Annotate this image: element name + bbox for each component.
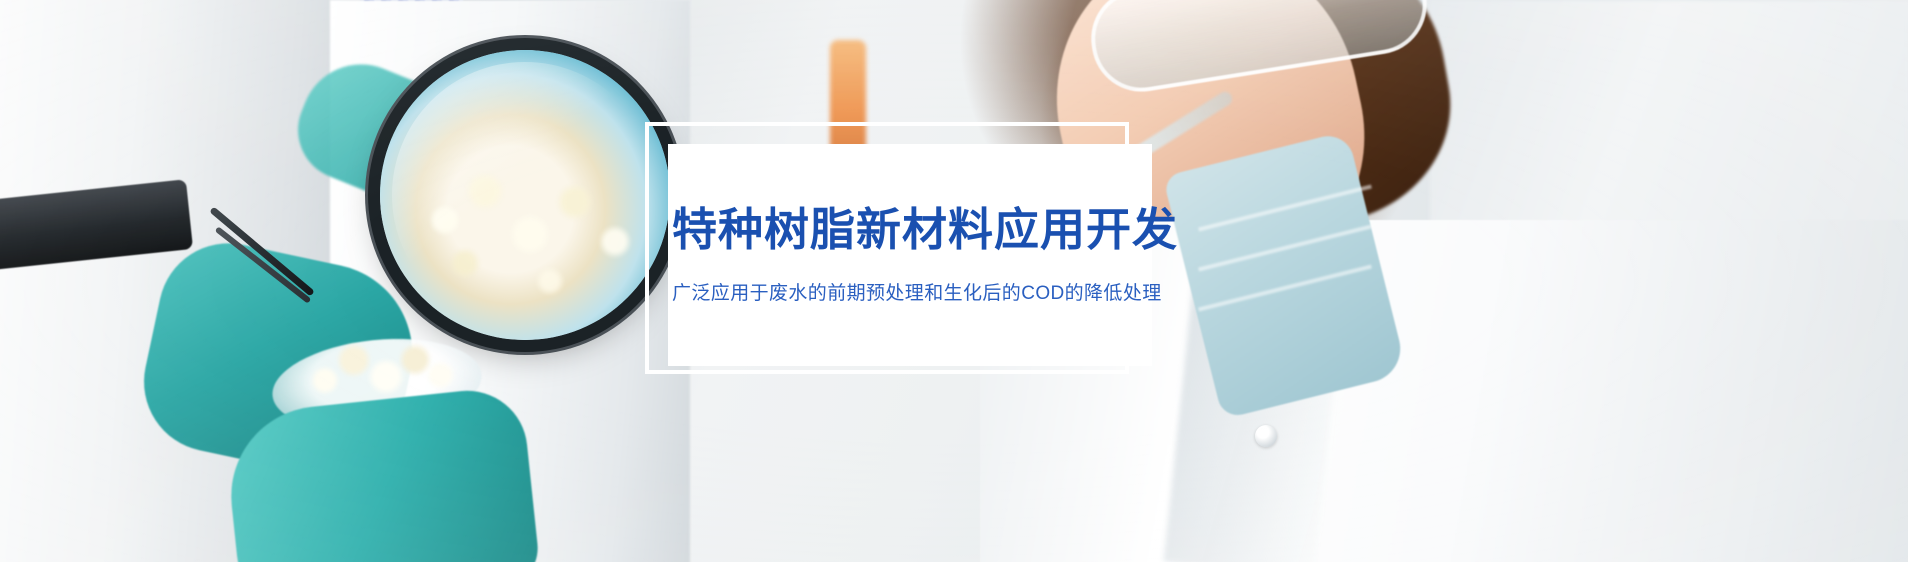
page-title: 特种树脂新材料应用开发: [672, 204, 1178, 256]
headline-card-content: 特种树脂新材料应用开发 广泛应用于废水的前期预处理和生化后的COD的降低处理: [668, 144, 1152, 366]
page-subtitle: 广泛应用于废水的前期预处理和生化后的COD的降低处理: [672, 282, 1162, 307]
hero-banner: 特种树脂新材料应用开发 广泛应用于废水的前期预处理和生化后的COD的降低处理: [0, 0, 1908, 562]
